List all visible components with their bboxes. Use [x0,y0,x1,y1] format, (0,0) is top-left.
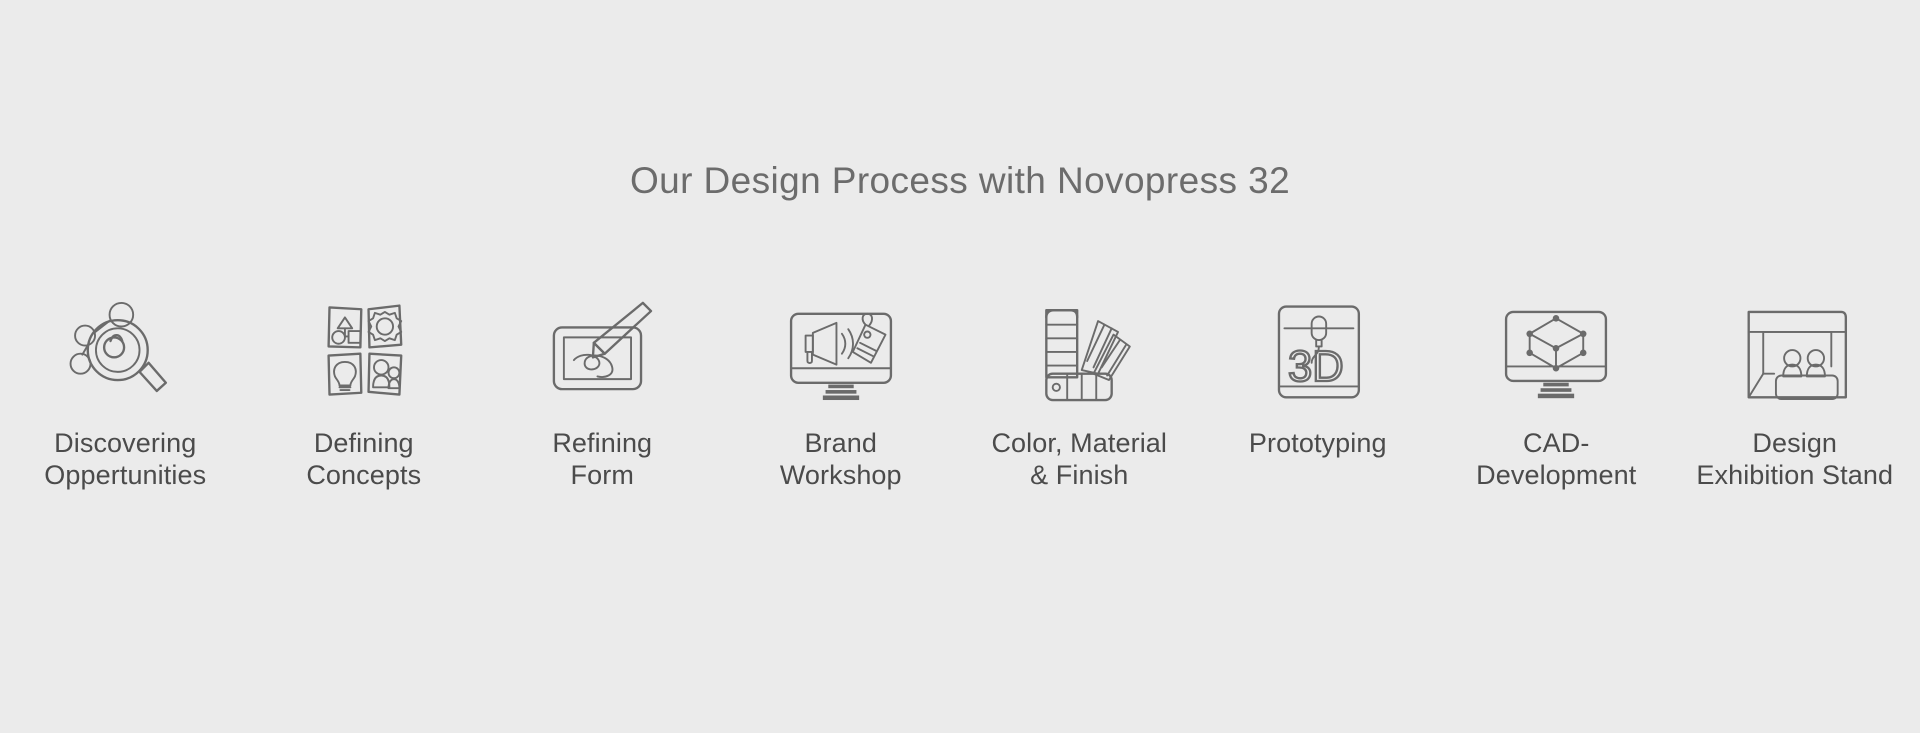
process-step-label: Color, Material & Finish [991,428,1167,492]
printer-3d-text: 3D [1288,343,1344,391]
process-step-prototyping[interactable]: 3D Prototyping [1199,290,1438,460]
process-step-color-material-finish[interactable]: Color, Material & Finish [960,290,1199,492]
magnifier-network-icon [60,290,190,412]
process-step-label: Prototyping [1249,428,1387,460]
process-step-label: Brand Workshop [780,428,902,492]
monitor-wireframe-cube-icon [1491,290,1621,412]
process-step-label: Discovering Oppertunities [44,428,206,492]
process-step-defining-concepts[interactable]: Defining Concepts [245,290,484,492]
concept-moodboard-grid-icon [299,290,429,412]
process-step-discovering-oppertunities[interactable]: Discovering Oppertunities [6,290,245,492]
process-step-label: Design Exhibition Stand [1696,428,1893,492]
process-steps-row: Discovering Oppertunities [0,290,1920,492]
drawing-tablet-stylus-icon [537,290,667,412]
design-process-page: Our Design Process with Novopress 32 [0,0,1920,733]
process-step-refining-form[interactable]: Refining Form [483,290,722,492]
process-step-label: CAD- Development [1476,428,1636,492]
page-title: Our Design Process with Novopress 32 [0,160,1920,202]
exhibition-stand-icon [1730,290,1860,412]
process-step-label: Defining Concepts [306,428,421,492]
color-swatch-fan-icon [1014,290,1144,412]
monitor-megaphone-tag-icon [776,290,906,412]
process-step-cad-development[interactable]: CAD- Development [1437,290,1676,492]
process-step-label: Refining Form [552,428,652,492]
3d-printer-icon: 3D [1253,290,1383,412]
process-step-brand-workshop[interactable]: Brand Workshop [722,290,961,492]
process-step-design-exhibition-stand[interactable]: Design Exhibition Stand [1676,290,1915,492]
